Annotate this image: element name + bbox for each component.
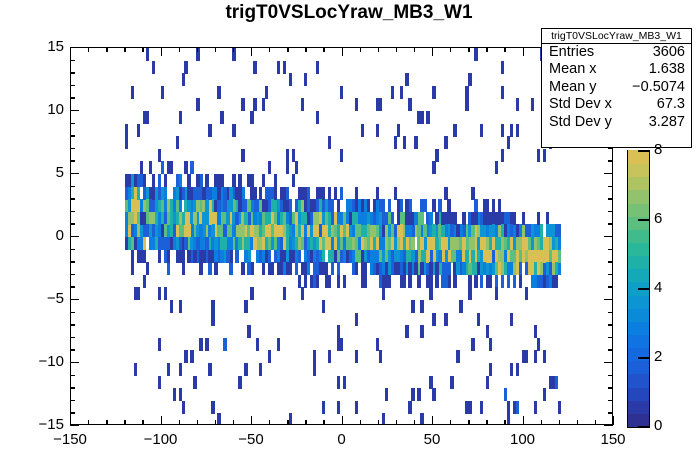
heatmap-cell — [295, 262, 298, 275]
heatmap-cell — [307, 199, 310, 212]
x-axis-minor-tick-top — [215, 47, 216, 52]
heatmap-cell — [507, 262, 510, 275]
heatmap-cell — [259, 363, 262, 376]
heatmap-cell — [450, 237, 453, 250]
heatmap-cell — [146, 48, 149, 61]
heatmap-cell — [217, 199, 220, 212]
heatmap-cell — [176, 224, 179, 237]
heatmap-cell — [397, 212, 400, 225]
heatmap-cell — [179, 187, 182, 200]
y-axis-minor-tick-right — [608, 148, 613, 149]
heatmap-cell — [352, 199, 355, 212]
heatmap-cell — [179, 363, 182, 376]
x-axis-minor-tick — [378, 420, 379, 425]
heatmap-cell — [244, 212, 247, 225]
heatmap-cell — [546, 275, 549, 288]
heatmap-cell — [161, 237, 164, 250]
heatmap-cell — [179, 224, 182, 237]
heatmap-cell — [462, 237, 465, 250]
heatmap-cell — [382, 199, 385, 212]
heatmap-cell — [546, 212, 549, 225]
heatmap-cell — [131, 212, 134, 225]
heatmap-cell — [361, 199, 364, 212]
y-axis-minor-tick — [70, 211, 75, 212]
heatmap-cell — [286, 149, 289, 162]
x-axis-tick — [161, 416, 162, 425]
heatmap-cell — [403, 262, 406, 275]
x-axis-minor-tick-top — [468, 47, 469, 52]
y-axis-minor-tick — [70, 324, 75, 325]
heatmap-cell — [232, 124, 235, 137]
heatmap-cell — [322, 187, 325, 200]
palette-tick — [638, 426, 649, 428]
heatmap-cell — [268, 212, 271, 225]
heatmap-cell — [217, 212, 220, 225]
heatmap-cell — [453, 124, 456, 137]
heatmap-cell — [337, 401, 340, 414]
heatmap-cell — [340, 212, 343, 225]
heatmap-cell — [322, 224, 325, 237]
heatmap-cell — [286, 224, 289, 237]
heatmap-cell — [208, 262, 211, 275]
heatmap-cell — [184, 161, 187, 174]
x-axis-minor-tick — [486, 420, 487, 425]
heatmap-cell — [411, 224, 414, 237]
heatmap-cell — [235, 212, 238, 225]
heatmap-cell — [223, 187, 226, 200]
heatmap-cell — [337, 199, 340, 212]
heatmap-cell — [549, 262, 552, 275]
heatmap-cell — [220, 250, 223, 263]
heatmap-cell — [420, 111, 423, 124]
y-axis-tick-right — [604, 362, 613, 363]
heatmap-cell — [313, 363, 316, 376]
heatmap-cell — [397, 237, 400, 250]
heatmap-cell — [205, 237, 208, 250]
heatmap-cell — [483, 224, 486, 237]
heatmap-cell — [471, 187, 474, 200]
heatmap-cell — [492, 262, 495, 275]
heatmap-cell — [549, 224, 552, 237]
y-axis-minor-tick — [70, 375, 75, 376]
heatmap-cell — [441, 224, 444, 237]
heatmap-cell — [495, 250, 498, 263]
heatmap-cell — [552, 250, 555, 263]
heatmap-cell — [456, 350, 459, 363]
heatmap-cell — [253, 224, 256, 237]
heatmap-cell — [280, 187, 283, 200]
heatmap-cell — [432, 161, 435, 174]
heatmap-cell — [444, 237, 447, 250]
heatmap-cell — [453, 212, 456, 225]
heatmap-cell — [429, 262, 432, 275]
heatmap-cell — [295, 212, 298, 225]
heatmap-cell — [495, 224, 498, 237]
heatmap-cell — [301, 98, 304, 111]
heatmap-cell — [465, 250, 468, 263]
heatmap-cell — [131, 199, 134, 212]
heatmap-cell — [394, 237, 397, 250]
heatmap-cell — [286, 212, 289, 225]
heatmap-cell — [164, 212, 167, 225]
heatmap-cell — [516, 124, 519, 137]
heatmap-cell — [277, 212, 280, 225]
palette-tick — [638, 357, 649, 359]
palette-swatch — [628, 150, 649, 164]
heatmap-cell — [199, 174, 202, 187]
x-axis-minor-tick — [504, 420, 505, 425]
heatmap-cell — [256, 237, 259, 250]
y-axis-minor-tick — [70, 60, 75, 61]
heatmap-cell — [420, 325, 423, 338]
heatmap-cell — [152, 61, 155, 74]
x-axis-minor-tick-top — [124, 47, 125, 52]
heatmap-cell — [331, 262, 334, 275]
statistics-key: Mean x — [549, 61, 597, 78]
heatmap-cell — [340, 187, 343, 200]
heatmap-cell — [241, 262, 244, 275]
y-axis-tick-label: 15 — [18, 38, 64, 55]
heatmap-cell — [283, 287, 286, 300]
x-axis-minor-tick-top — [197, 47, 198, 52]
heatmap-cell — [125, 187, 128, 200]
heatmap-cell — [187, 174, 190, 187]
palette-swatch — [628, 190, 649, 204]
heatmap-cell — [394, 136, 397, 149]
heatmap-cell — [507, 237, 510, 250]
heatmap-cell — [373, 199, 376, 212]
heatmap-cell — [420, 300, 423, 313]
heatmap-cell — [238, 187, 241, 200]
heatmap-cell — [199, 224, 202, 237]
y-axis-minor-tick-right — [608, 412, 613, 413]
heatmap-cell — [140, 237, 143, 250]
heatmap-cell — [277, 61, 280, 74]
heatmap-cell — [516, 250, 519, 263]
heatmap-cell — [304, 237, 307, 250]
y-axis-tick — [70, 47, 79, 48]
heatmap-cell — [319, 224, 322, 237]
heatmap-cell — [247, 174, 250, 187]
heatmap-cell — [182, 212, 185, 225]
heatmap-cell — [265, 212, 268, 225]
heatmap-cell — [414, 136, 417, 149]
heatmap-cell — [316, 275, 319, 288]
heatmap-cell — [208, 199, 211, 212]
heatmap-cell — [400, 199, 403, 212]
heatmap-cell — [223, 237, 226, 250]
heatmap-cell — [182, 250, 185, 263]
x-axis-minor-tick-top — [396, 47, 397, 52]
heatmap-cell — [268, 250, 271, 263]
heatmap-cell — [441, 250, 444, 263]
heatmap-cell — [196, 187, 199, 200]
heatmap-cell — [510, 363, 513, 376]
y-axis-tick-right — [604, 425, 613, 426]
heatmap-cell — [220, 111, 223, 124]
heatmap-cell — [513, 401, 516, 414]
heatmap-cell — [199, 262, 202, 275]
heatmap-cell — [283, 61, 286, 74]
heatmap-cell — [134, 174, 137, 187]
palette-swatch — [628, 387, 649, 401]
heatmap-cell — [408, 98, 411, 111]
heatmap-cell — [370, 212, 373, 225]
heatmap-cell — [158, 287, 161, 300]
heatmap-cell — [355, 262, 358, 275]
chart-title: trigT0VSLocYraw_MB3_W1 — [0, 2, 698, 24]
heatmap-cell — [238, 199, 241, 212]
heatmap-cell — [411, 388, 414, 401]
heatmap-cell — [295, 199, 298, 212]
heatmap-cell — [555, 262, 558, 275]
x-axis-minor-tick-top — [142, 47, 143, 52]
x-axis-minor-tick — [88, 420, 89, 425]
heatmap-cell — [465, 98, 468, 111]
heatmap-cell — [164, 287, 167, 300]
heatmap-cell — [250, 111, 253, 124]
heatmap-cell — [423, 237, 426, 250]
heatmap-cell — [486, 376, 489, 389]
heatmap-cell — [444, 224, 447, 237]
heatmap-cell — [292, 212, 295, 225]
heatmap-cell — [238, 224, 241, 237]
heatmap-cell — [337, 275, 340, 288]
heatmap-cell — [253, 237, 256, 250]
heatmap-cell — [325, 262, 328, 275]
heatmap-cell — [158, 174, 161, 187]
heatmap-cell — [474, 48, 477, 61]
heatmap-cell — [385, 388, 388, 401]
y-axis-minor-tick — [70, 85, 75, 86]
heatmap-cell — [391, 250, 394, 263]
statistics-key: Std Dev x — [549, 96, 612, 113]
heatmap-cell — [250, 187, 253, 200]
heatmap-cell — [316, 199, 319, 212]
palette-swatch — [628, 334, 649, 348]
y-axis-tick-label: 5 — [18, 164, 64, 181]
heatmap-cell — [361, 212, 364, 225]
x-axis-tick-label: 50 — [402, 431, 462, 448]
heatmap-cell — [241, 187, 244, 200]
y-axis-tick — [70, 362, 79, 363]
heatmap-cell — [137, 124, 140, 137]
x-axis-minor-tick — [124, 420, 125, 425]
heatmap-cell — [277, 250, 280, 263]
x-axis-minor-tick — [468, 420, 469, 425]
heatmap-cell — [202, 250, 205, 263]
heatmap-cell — [471, 237, 474, 250]
heatmap-cell — [158, 237, 161, 250]
heatmap-cell — [167, 363, 170, 376]
heatmap-cell — [543, 237, 546, 250]
heatmap-cell — [480, 124, 483, 137]
heatmap-cell — [552, 237, 555, 250]
heatmap-cell — [286, 187, 289, 200]
x-axis-minor-tick-top — [179, 47, 180, 52]
palette-swatch — [628, 177, 649, 191]
heatmap-cell — [465, 237, 468, 250]
heatmap-cell — [247, 212, 250, 225]
heatmap-cell — [307, 262, 310, 275]
heatmap-cell — [382, 413, 385, 424]
heatmap-cell — [190, 350, 193, 363]
heatmap-cell — [182, 73, 185, 86]
heatmap-cell — [543, 350, 546, 363]
heatmap-cell — [208, 124, 211, 137]
heatmap-cell — [516, 401, 519, 414]
heatmap-cell — [379, 350, 382, 363]
heatmap-cell — [187, 187, 190, 200]
heatmap-cell — [417, 250, 420, 263]
heatmap-cell — [262, 174, 265, 187]
y-axis-minor-tick — [70, 148, 75, 149]
heatmap-cell — [450, 376, 453, 389]
heatmap-cell — [397, 199, 400, 212]
heatmap-cell — [501, 275, 504, 288]
y-axis-minor-tick-right — [608, 211, 613, 212]
heatmap-cell — [474, 212, 477, 225]
heatmap-cell — [325, 237, 328, 250]
heatmap-cell — [528, 237, 531, 250]
heatmap-cell — [140, 161, 143, 174]
statistics-rows: Entries3606Mean x1.638Mean y−0.5074Std D… — [542, 44, 691, 131]
heatmap-cell — [137, 237, 140, 250]
heatmap-cell — [268, 237, 271, 250]
heatmap-cell — [411, 237, 414, 250]
heatmap-cell — [465, 86, 468, 99]
heatmap-cell — [373, 224, 376, 237]
heatmap-cell — [220, 174, 223, 187]
heatmap-cell — [507, 275, 510, 288]
heatmap-cell — [403, 237, 406, 250]
heatmap-cell — [489, 338, 492, 351]
heatmap-cell — [316, 212, 319, 225]
heatmap-cell — [480, 275, 483, 288]
heatmap-cell — [403, 275, 406, 288]
heatmap-cell — [241, 199, 244, 212]
heatmap-cell — [400, 224, 403, 237]
statistics-value: 3606 — [653, 44, 685, 61]
x-axis-minor-tick-top — [233, 47, 234, 52]
heatmap-cell — [540, 224, 543, 237]
heatmap-cell — [214, 174, 217, 187]
palette-swatch — [628, 256, 649, 270]
y-axis-minor-tick-right — [608, 160, 613, 161]
heatmap-cell — [531, 275, 534, 288]
heatmap-cell — [489, 363, 492, 376]
heatmap-cell — [489, 275, 492, 288]
heatmap-cell — [486, 325, 489, 338]
x-axis-minor-tick — [179, 420, 180, 425]
heatmap-cell — [268, 224, 271, 237]
heatmap-cell — [376, 98, 379, 111]
heatmap-cell — [459, 224, 462, 237]
heatmap-cell — [408, 199, 411, 212]
heatmap-cell — [158, 187, 161, 200]
heatmap-cell — [158, 338, 161, 351]
heatmap-cell — [435, 275, 438, 288]
heatmap-cell — [495, 275, 498, 288]
heatmap-cell — [232, 174, 235, 187]
heatmap-cell — [310, 199, 313, 212]
y-axis-minor-tick — [70, 223, 75, 224]
heatmap-cell — [205, 338, 208, 351]
heatmap-cell — [313, 224, 316, 237]
heatmap-cell — [364, 212, 367, 225]
heatmap-cell — [143, 212, 146, 225]
heatmap-cell — [417, 388, 420, 401]
heatmap-cell — [388, 199, 391, 212]
y-axis-tick-right — [604, 299, 613, 300]
heatmap-cell — [196, 237, 199, 250]
heatmap-cell — [510, 224, 513, 237]
x-axis-minor-tick-top — [414, 47, 415, 52]
heatmap-cell — [364, 237, 367, 250]
heatmap-cell — [146, 224, 149, 237]
heatmap-cell — [173, 388, 176, 401]
heatmap-cell — [298, 250, 301, 263]
heatmap-cell — [423, 224, 426, 237]
heatmap-cell — [304, 73, 307, 86]
heatmap-cell — [531, 98, 534, 111]
heatmap-cell — [241, 224, 244, 237]
x-axis-tick — [523, 416, 524, 425]
heatmap-cell — [438, 262, 441, 275]
heatmap-cell — [193, 376, 196, 389]
heatmap-cell — [328, 187, 331, 200]
heatmap-cell — [382, 250, 385, 263]
heatmap-cell — [558, 237, 561, 250]
heatmap-cell — [184, 61, 187, 74]
y-axis-tick-label: 10 — [18, 101, 64, 118]
y-axis-minor-tick — [70, 387, 75, 388]
heatmap-cell — [388, 224, 391, 237]
heatmap-cells — [71, 48, 612, 424]
heatmap-cell — [507, 136, 510, 149]
heatmap-cell — [307, 187, 310, 200]
heatmap-cell — [364, 262, 367, 275]
heatmap-cell — [468, 262, 471, 275]
heatmap-cell — [507, 401, 510, 414]
heatmap-cell — [480, 262, 483, 275]
heatmap-cell — [301, 212, 304, 225]
heatmap-cell — [301, 287, 304, 300]
heatmap-cell — [355, 237, 358, 250]
heatmap-cell — [202, 224, 205, 237]
heatmap-cell — [459, 300, 462, 313]
heatmap-cell — [519, 224, 522, 237]
heatmap-cell — [432, 250, 435, 263]
x-axis-tick-top — [523, 47, 524, 56]
heatmap-cell — [125, 224, 128, 237]
heatmap-cell — [271, 199, 274, 212]
heatmap-cell — [268, 161, 271, 174]
heatmap-cell — [187, 199, 190, 212]
heatmap-cell — [214, 237, 217, 250]
heatmap-cell — [420, 212, 423, 225]
heatmap-cell — [316, 237, 319, 250]
statistics-key: Entries — [549, 44, 594, 61]
x-axis-tick — [613, 416, 614, 425]
heatmap-cell — [211, 313, 214, 326]
y-axis-minor-tick — [70, 135, 75, 136]
heatmap-cell — [259, 250, 262, 263]
heatmap-cell — [286, 262, 289, 275]
heatmap-cell — [328, 136, 331, 149]
heatmap-cell — [137, 287, 140, 300]
statistics-box[interactable]: trigT0VSLocYraw_MB3_W1 Entries3606Mean x… — [541, 28, 692, 148]
